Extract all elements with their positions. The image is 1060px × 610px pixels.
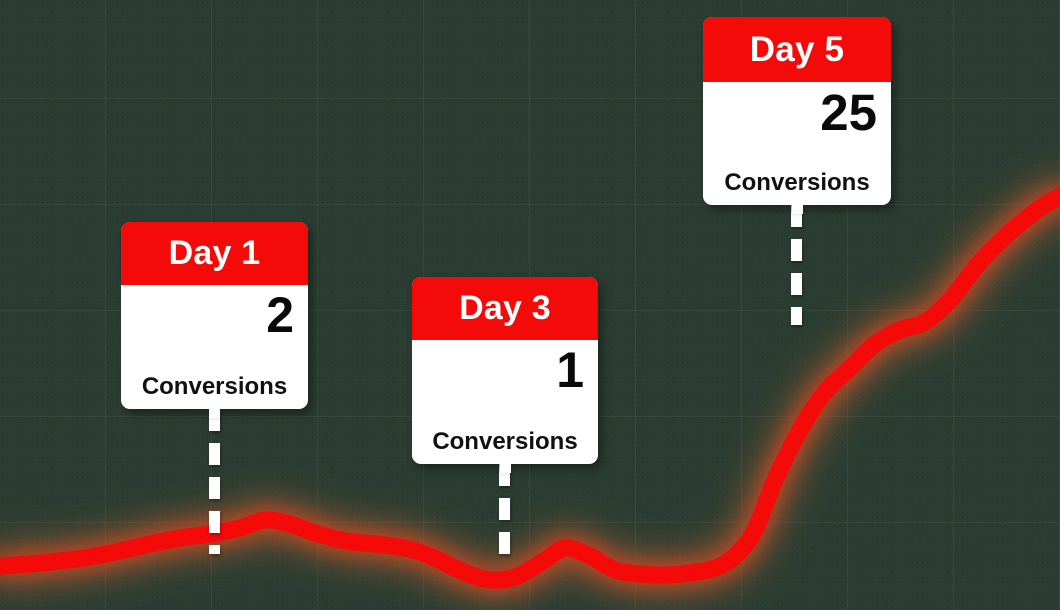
tooltip-day-label: Day 5: [703, 17, 891, 82]
tooltip-tail: [209, 407, 220, 418]
connector-day3: [499, 464, 510, 564]
connector-dash: [209, 511, 220, 533]
tooltip-metric-label: Conversions: [426, 430, 584, 454]
tooltip-conversion-value: 2: [135, 289, 294, 342]
connector-dash: [209, 443, 220, 465]
connector-dash: [209, 477, 220, 499]
tooltip-day-label: Day 3: [412, 277, 598, 340]
tooltip-tail: [792, 203, 803, 214]
connector-dash: [791, 239, 802, 261]
tooltip-tail: [500, 462, 511, 473]
connector-dash: [499, 532, 510, 554]
connector-dash: [791, 307, 802, 325]
tooltip-card-body: 1 Conversions: [412, 340, 598, 464]
tooltip-card-body: 2 Conversions: [121, 285, 308, 409]
connector-dash: [209, 545, 220, 554]
tooltip-card-inner: Day 3 1 Conversions: [412, 277, 598, 464]
connector-dash: [791, 273, 802, 295]
connector-day5: [791, 205, 802, 325]
tooltip-card-inner: Day 1 2 Conversions: [121, 222, 308, 409]
tooltip-metric-label: Conversions: [135, 375, 294, 399]
tooltip-card-day5[interactable]: Day 5 25 Conversions: [703, 17, 891, 205]
tooltip-day-label: Day 1: [121, 222, 308, 285]
tooltip-conversion-value: 1: [426, 344, 584, 397]
connector-day1: [209, 409, 220, 554]
connector-dash: [499, 498, 510, 520]
tooltip-card-inner: Day 5 25 Conversions: [703, 17, 891, 205]
tooltip-card-day1[interactable]: Day 1 2 Conversions: [121, 222, 308, 409]
tooltip-card-day3[interactable]: Day 3 1 Conversions: [412, 277, 598, 464]
tooltip-conversion-value: 25: [717, 86, 877, 140]
tooltip-card-body: 25 Conversions: [703, 82, 891, 205]
tooltip-metric-label: Conversions: [717, 171, 877, 195]
chart-canvas: Day 1 2 Conversions Day 3 1 Conversions …: [0, 0, 1060, 610]
